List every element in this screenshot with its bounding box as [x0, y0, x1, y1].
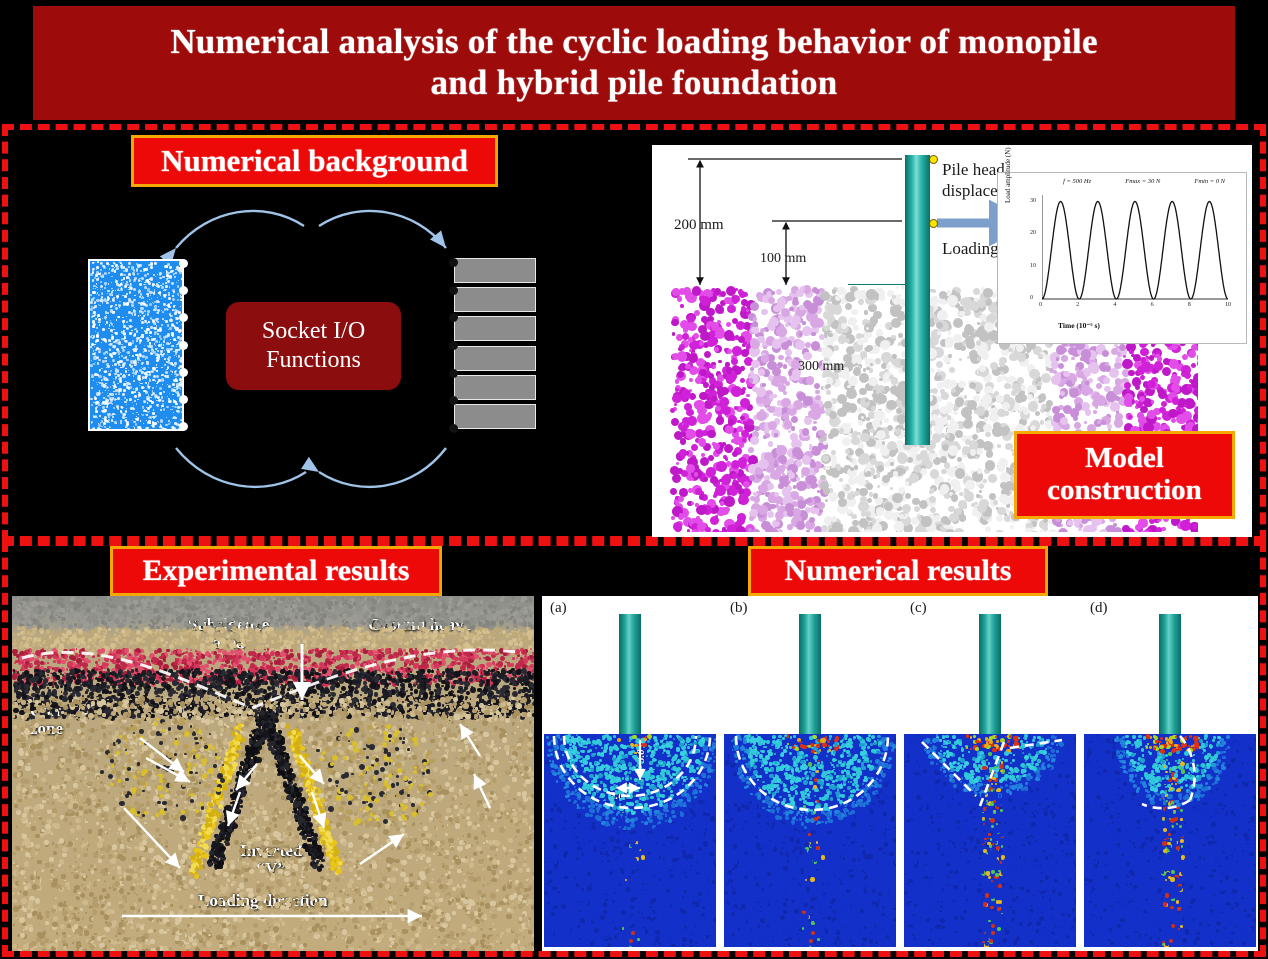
experimental-results-photo: Subsidence area Ground heave Convective … [12, 596, 534, 951]
chart-annot-fmin: Fmin = 0 N [1194, 178, 1225, 185]
coupling-node [449, 286, 458, 295]
dem-particle-block [88, 259, 184, 431]
socket-io-line1: Socket I/O [262, 317, 365, 346]
coupling-node [449, 369, 458, 378]
label-dim-200mm: 200 mm [674, 217, 724, 234]
poster-title-line1: Numerical analysis of the cyclic loading… [170, 22, 1097, 61]
badge-experimental-results: Experimental results [110, 546, 442, 596]
badge-model-construction: Model construction [1014, 431, 1235, 519]
badge-model-line2: construction [1047, 475, 1202, 507]
chart-annot-fmax: Fmax = 30 N [1125, 178, 1160, 185]
cyclic-load-chart: f = 500 Hz Fmax = 30 N Fmin = 0 N Load a… [997, 172, 1247, 344]
numerical-background-panel: Socket I/O Functions [14, 130, 634, 535]
numerical-panel-d-label: (d) [1090, 600, 1108, 617]
coupling-node [179, 422, 188, 431]
chart-annot-frequency: f = 500 Hz [1063, 178, 1091, 185]
mesh-layer [454, 346, 536, 371]
numerical-panel-a: (a) 3.0 d [542, 596, 718, 951]
pile-shaft-c [979, 614, 1001, 744]
pile-head-marker-top [929, 155, 938, 164]
poster-canvas: Numerical analysis of the cyclic loading… [0, 0, 1268, 959]
pile-shaft-a [619, 614, 641, 744]
coupling-node [179, 368, 188, 377]
coupling-node [449, 424, 458, 433]
numerical-panel-c: (c) [902, 596, 1078, 951]
chart-ytick: 0 [1030, 295, 1033, 301]
panel-d-bulb-overlay [1084, 734, 1256, 947]
chart-plot-area: 02468100102030 [1042, 195, 1228, 307]
mesh-layer [454, 375, 536, 400]
badge-experimental-results-label: Experimental results [143, 554, 410, 588]
panel-a-dimension-overlay [544, 734, 716, 947]
coupling-node [179, 341, 188, 350]
chart-xtick: 6 [1151, 302, 1154, 308]
numerical-panel-b-label: (b) [730, 600, 748, 617]
badge-numerical-background-label: Numerical background [161, 143, 468, 179]
mesh-layer [454, 404, 536, 429]
coupling-node [179, 259, 188, 268]
numerical-panel-a-label: (a) [550, 600, 567, 617]
soil-field-a: 3.0 d 2.0 d [544, 734, 716, 947]
badge-model-line1: Model [1085, 443, 1164, 475]
chart-xtick: 8 [1188, 302, 1191, 308]
pile-shaft-b [799, 614, 821, 744]
label-dim-300mm: 300 mm [798, 359, 844, 375]
numerical-panel-c-label: (c) [910, 600, 927, 617]
chart-xtick: 0 [1039, 302, 1042, 308]
numerical-panel-b: (b) [722, 596, 898, 951]
chart-ytick: 30 [1030, 198, 1036, 204]
soil-field-d [1084, 734, 1256, 947]
mesh-layer [454, 287, 536, 312]
chart-curve [1042, 195, 1228, 307]
coupling-node [449, 341, 458, 350]
fem-layered-block [454, 258, 536, 433]
poster-title-line2: and hybrid pile foundation [431, 63, 838, 102]
chart-ytick: 20 [1030, 230, 1036, 236]
numerical-results-panels: (a) 3.0 d [542, 596, 1258, 951]
socket-io-functions-box: Socket I/O Functions [226, 302, 401, 390]
coupling-node [179, 395, 188, 404]
numerical-panel-d: (d) [1082, 596, 1258, 951]
mesh-layer [454, 316, 536, 341]
chart-ytick: 10 [1030, 263, 1036, 269]
chart-annotations: f = 500 Hz Fmax = 30 N Fmin = 0 N [1046, 178, 1242, 185]
panel-b-bulb-overlay [724, 734, 896, 947]
panel-c-wedge-overlay [904, 734, 1076, 947]
poster-title-bar: Numerical analysis of the cyclic loading… [33, 6, 1235, 120]
badge-numerical-results: Numerical results [748, 546, 1048, 596]
pile-head-marker-load [929, 219, 938, 228]
badge-numerical-results-label: Numerical results [785, 554, 1012, 588]
pile-shaft [905, 155, 930, 445]
socket-io-line2: Functions [266, 346, 361, 375]
label-dim-100mm: 100 mm [760, 251, 806, 267]
coupling-node [179, 286, 188, 295]
coupling-node [449, 258, 458, 267]
photo-annotation-arrows [12, 596, 534, 951]
mesh-layer [454, 258, 536, 283]
soil-field-c [904, 734, 1076, 947]
coupling-node [179, 313, 188, 322]
pile-shaft-d [1159, 614, 1181, 744]
chart-xlabel: Time (10⁻⁵ s) [1058, 321, 1100, 330]
chart-xtick: 4 [1113, 302, 1116, 308]
chart-xtick: 10 [1225, 302, 1231, 308]
chart-xtick: 2 [1076, 302, 1079, 308]
badge-numerical-background: Numerical background [131, 135, 498, 187]
soil-field-b [724, 734, 896, 947]
chart-ylabel: Load amplitude (N) [1004, 191, 1012, 203]
poster-title: Numerical analysis of the cyclic loading… [170, 22, 1097, 104]
